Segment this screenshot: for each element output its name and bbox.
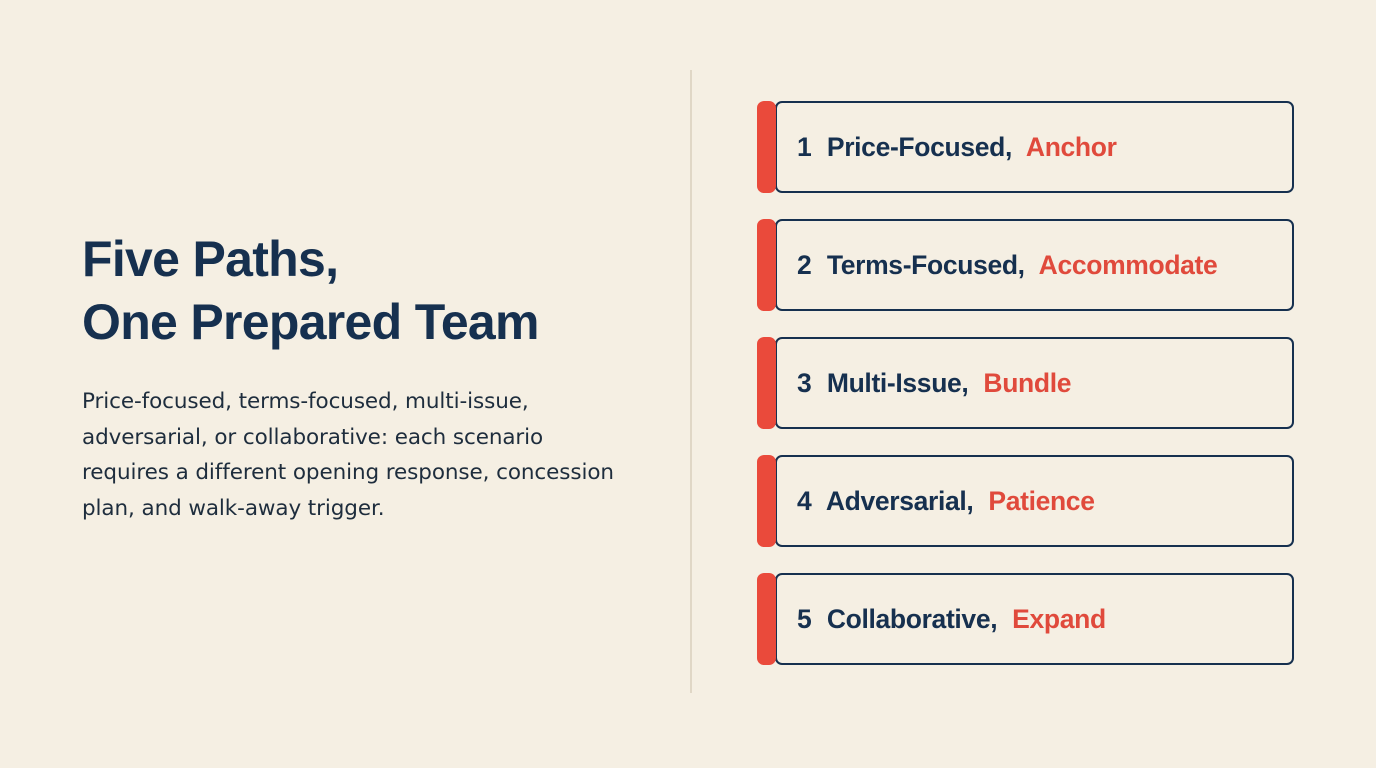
list-item[interactable]: 3 Multi-Issue, Bundle	[757, 337, 1294, 429]
card-outline[interactable]: 5 Collaborative, Expand	[775, 573, 1294, 665]
slide-canvas: Five Paths, One Prepared Team Price-focu…	[0, 0, 1376, 768]
card-text: 2 Terms-Focused, Accommodate	[777, 250, 1217, 281]
accent-bar	[757, 219, 776, 311]
card-text: 4 Adversarial, Patience	[777, 486, 1095, 517]
page-title-line-1: Five Paths,	[82, 228, 638, 291]
card-label: Terms-Focused,	[827, 250, 1025, 280]
card-action: Accommodate	[1039, 250, 1218, 280]
page-title: Five Paths, One Prepared Team	[82, 228, 638, 354]
card-text: 1 Price-Focused, Anchor	[777, 132, 1117, 163]
accent-bar	[757, 573, 776, 665]
scenario-card-list: 1 Price-Focused, Anchor 2 Terms-Focused,…	[757, 101, 1294, 665]
list-item[interactable]: 5 Collaborative, Expand	[757, 573, 1294, 665]
card-number: 4	[797, 486, 811, 516]
vertical-divider	[690, 70, 692, 693]
list-item[interactable]: 4 Adversarial, Patience	[757, 455, 1294, 547]
list-item[interactable]: 2 Terms-Focused, Accommodate	[757, 219, 1294, 311]
card-number: 2	[797, 250, 811, 280]
card-text: 5 Collaborative, Expand	[777, 604, 1106, 635]
card-outline[interactable]: 2 Terms-Focused, Accommodate	[775, 219, 1294, 311]
page-title-line-2: One Prepared Team	[82, 291, 638, 354]
card-label: Price-Focused,	[827, 132, 1012, 162]
card-action: Anchor	[1026, 132, 1117, 162]
card-number: 1	[797, 132, 811, 162]
body-paragraph: Price-focused, terms-focused, multi-issu…	[82, 354, 627, 527]
card-action: Bundle	[983, 368, 1071, 398]
card-number: 5	[797, 604, 811, 634]
card-label: Multi-Issue,	[827, 368, 969, 398]
card-outline[interactable]: 3 Multi-Issue, Bundle	[775, 337, 1294, 429]
left-content-column: Five Paths, One Prepared Team Price-focu…	[82, 228, 638, 527]
card-outline[interactable]: 1 Price-Focused, Anchor	[775, 101, 1294, 193]
accent-bar	[757, 455, 776, 547]
accent-bar	[757, 101, 776, 193]
card-label: Collaborative,	[827, 604, 997, 634]
card-outline[interactable]: 4 Adversarial, Patience	[775, 455, 1294, 547]
card-action: Patience	[988, 486, 1094, 516]
card-label: Adversarial,	[826, 486, 974, 516]
card-text: 3 Multi-Issue, Bundle	[777, 368, 1071, 399]
card-number: 3	[797, 368, 811, 398]
accent-bar	[757, 337, 776, 429]
card-action: Expand	[1012, 604, 1106, 634]
list-item[interactable]: 1 Price-Focused, Anchor	[757, 101, 1294, 193]
